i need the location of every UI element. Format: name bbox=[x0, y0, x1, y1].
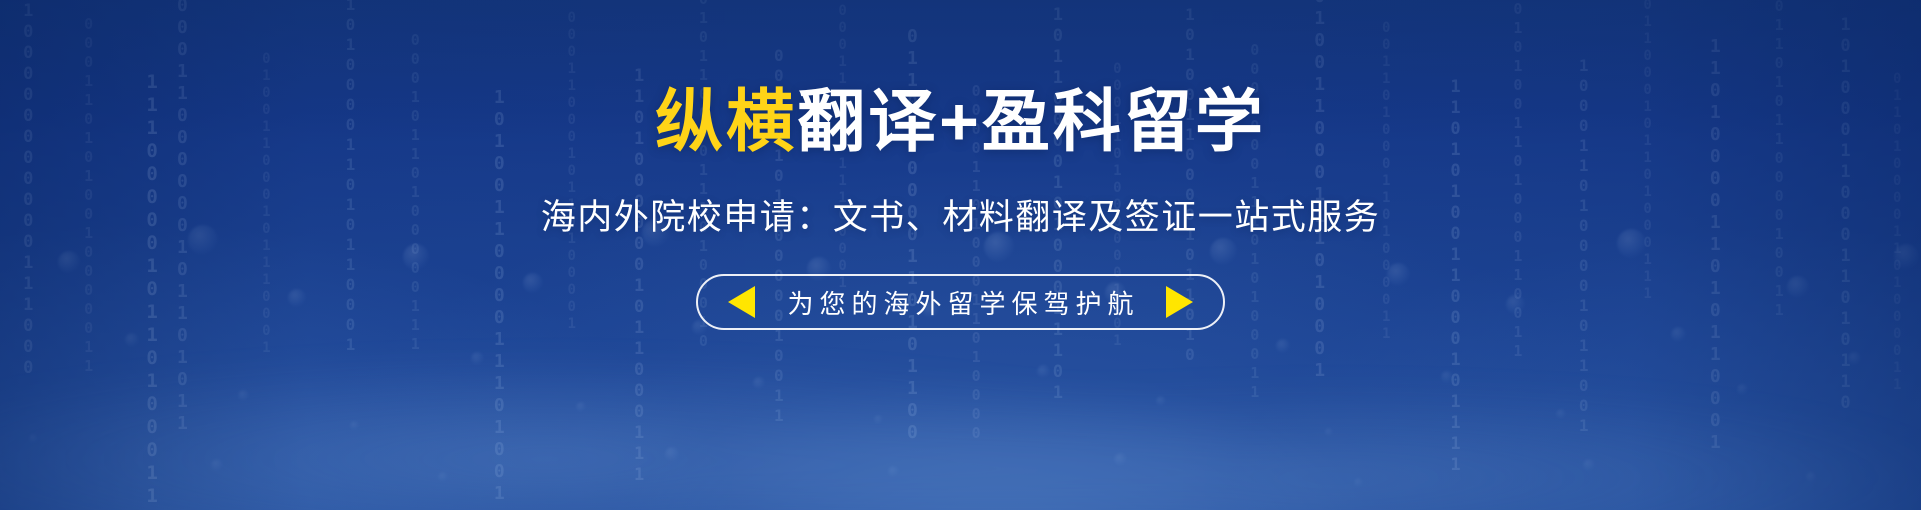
triangle-left-icon bbox=[728, 286, 755, 318]
promo-banner: 1110000000000011100000011010100100000111… bbox=[0, 0, 1921, 510]
triangle-right-icon bbox=[1166, 286, 1193, 318]
banner-subheadline: 海内外院校申请：文书、材料翻译及签证一站式服务 bbox=[541, 189, 1381, 240]
cta-button-label: 为您的海外留学保驾护航 bbox=[781, 284, 1139, 321]
headline-rest-text: 翻译+盈科留学 bbox=[797, 84, 1266, 160]
banner-content: 纵横翻译+盈科留学 海内外院校申请：文书、材料翻译及签证一站式服务 为您的海外留… bbox=[0, 0, 1921, 510]
banner-headline: 纵横翻译+盈科留学 bbox=[655, 88, 1266, 156]
cta-button[interactable]: 为您的海外留学保驾护航 bbox=[696, 274, 1224, 330]
headline-brand-text: 纵横 bbox=[655, 84, 797, 160]
